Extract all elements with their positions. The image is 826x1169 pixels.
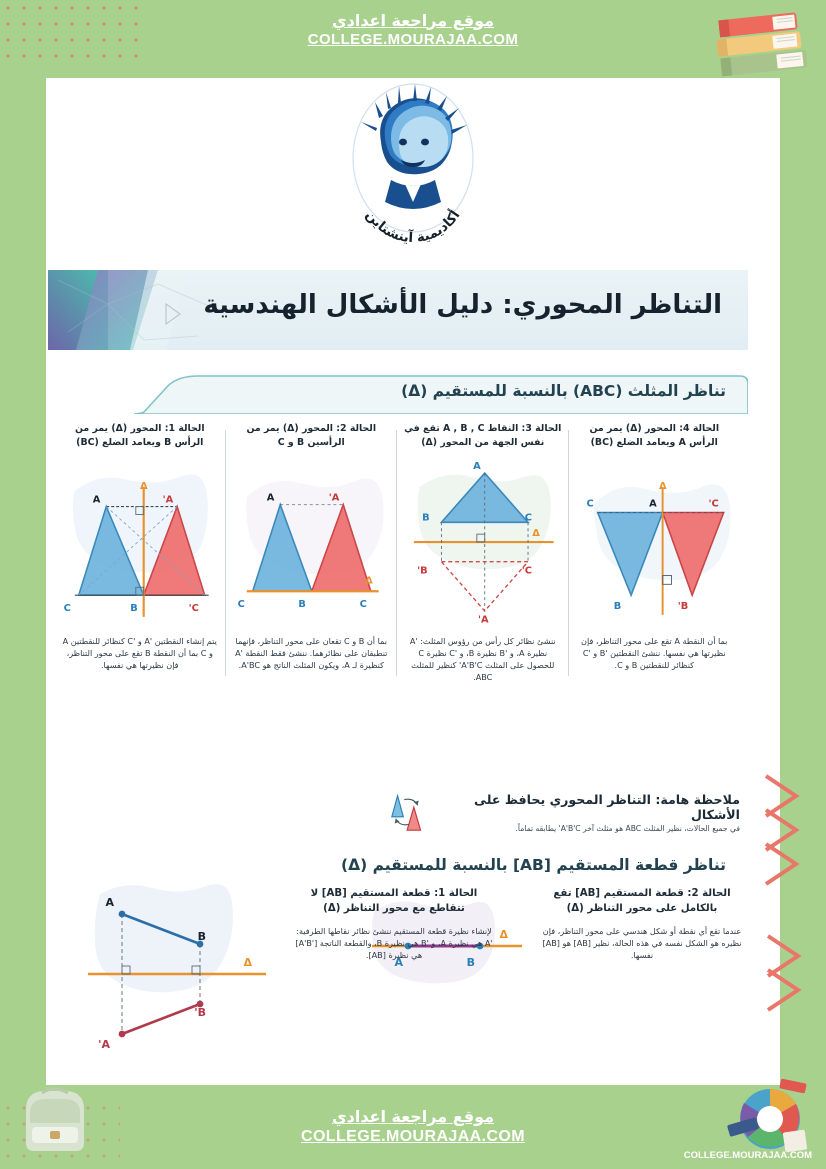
segment-case-1-figure: A B A' B' Δ [80,876,290,1066]
section-triangle-symmetry: تناظر المثلث (ABC) بالنسبة للمستقيم (Δ) … [48,374,748,844]
footer-banner: موقع مراجعة اعدادي COLLEGE.MOURAJAA.COM [196,1095,630,1169]
svg-text:A: A [266,493,274,504]
header-site-name-arabic: موقع مراجعة اعدادي [332,11,494,30]
books-illustration [708,8,818,98]
svg-text:C: C [359,599,366,610]
segment-case-1-heading: الحالة 1: قطعة المستقيم [AB] لا تتقاطع م… [294,886,494,917]
svg-text:C: C [64,603,71,614]
left-green-band [0,0,46,1169]
chevron-decoration-lower [762,930,822,1040]
important-note: ملاحظة هامة: التناظر المحوري يحافظ على ا… [388,788,740,836]
case-2-figure: A A' C B C Δ [233,456,391,631]
triangle-case-4: الحالة 4: المحور (Δ) يمر من الرأس A ويعا… [569,422,741,684]
svg-text:B: B [198,930,206,943]
svg-text:C: C [586,499,593,510]
svg-text:Δ: Δ [365,575,373,586]
svg-text:Δ: Δ [658,481,666,492]
svg-text:A: A [105,896,114,909]
svg-text:C': C' [189,603,199,614]
svg-text:B': B' [194,1006,206,1019]
einstein-academy-logo: أكاديمية آينشتاين [329,80,497,248]
symmetry-triangles-icon [388,791,426,833]
svg-text:A: A [649,499,657,510]
svg-text:B': B' [677,601,688,612]
svg-text:B: B [613,601,621,612]
triangle-case-3: الحالة 3: النقاط A , B , C تقع في نفس ال… [397,422,569,684]
school-supplies-illustration [722,1073,818,1157]
svg-text:A': A' [478,615,489,626]
section2-title: تناظر قطعة المستقيم [AB] بالنسبة للمستقي… [341,856,726,874]
svg-text:C': C' [708,499,718,510]
svg-text:Δ: Δ [499,928,508,941]
segment-case-2: الحالة 2: قطعة المستقيم [AB] تقع بالكامل… [542,886,742,961]
case-4-description: بما أن النقطة A تقع على محور التناظر، فإ… [576,635,734,671]
triangle-case-2: الحالة 2: المحور (Δ) يمر من الرأسين B و … [226,422,398,684]
svg-text:A': A' [98,1038,110,1051]
svg-text:B: B [422,512,430,523]
svg-text:B': B' [417,566,428,577]
case-2-heading: الحالة 2: المحور (Δ) يمر من الرأسين B و … [233,422,391,452]
segment-case-2-description: عندما تقع أي نقطة أو شكل هندسي على محور … [542,925,742,961]
case-3-description: ننشئ نظائر كل رأس من رؤوس المثلث: 'A نظي… [404,635,562,684]
note-title: ملاحظة هامة: التناظر المحوري يحافظ على ا… [434,792,740,822]
case-4-heading: الحالة 4: المحور (Δ) يمر من الرأس A ويعا… [576,422,734,452]
svg-text:B: B [130,603,138,614]
section-segment-symmetry: تناظر قطعة المستقيم [AB] بالنسبة للمستقي… [48,846,748,1066]
case-3-figure: A B C B' C' A' Δ [404,456,562,631]
section1-title: تناظر المثلث (ABC) بالنسبة للمستقيم (Δ) [401,382,726,400]
case-3-heading: الحالة 3: النقاط A , B , C تقع في نفس ال… [404,422,562,452]
svg-text:A': A' [328,493,339,504]
backpack-illustration [12,1079,98,1157]
svg-text:Δ: Δ [243,956,252,969]
case-1-figure: A A' C B C' Δ [61,456,219,631]
case-4-figure: C A C' B B' Δ [576,456,734,631]
header-site-url[interactable]: COLLEGE.MOURAJAA.COM [308,31,519,48]
segment-cases-row: الحالة 2: قطعة المستقيم [AB] تقع بالكامل… [48,886,748,1061]
triangle-case-1: الحالة 1: المحور (Δ) يمر من الرأس B ويعا… [54,422,226,684]
svg-text:Δ: Δ [140,481,148,492]
footer-site-url[interactable]: COLLEGE.MOURAJAA.COM [301,1128,525,1146]
svg-text:A': A' [163,495,174,506]
main-title-banner: التناظر المحوري: دليل الأشكال الهندسية [48,270,748,350]
infographic-page: موقع مراجعة اعدادي COLLEGE.MOURAJAA.COM [0,0,826,1169]
note-subtitle: في جميع الحالات، نظير المثلث ABC هو مثلث… [434,824,740,833]
svg-text:C': C' [522,566,532,577]
footer-corner-url: COLLEGE.MOURAJAA.COM [684,1150,812,1161]
footer-site-name-arabic: موقع مراجعة اعدادي [332,1107,494,1126]
svg-text:Δ: Δ [532,528,540,539]
segment-case-1-description: لإنشاء نظيرة قطعة المستقيم ننشئ نظائر نق… [294,925,494,961]
svg-text:C: C [525,512,532,523]
svg-text:A: A [473,461,481,472]
case-1-heading: الحالة 1: المحور (Δ) يمر من الرأس B ويعا… [61,422,219,452]
case-2-description: بما أن B و C تقعان على محور التناظر، فإن… [233,635,391,671]
segment-case-1: الحالة 1: قطعة المستقيم [AB] لا تتقاطع م… [294,886,494,961]
svg-text:B: B [298,599,306,610]
segment-case-2-heading: الحالة 2: قطعة المستقيم [AB] تقع بالكامل… [542,886,742,917]
polka-dot-decoration-top [0,0,140,70]
svg-text:C: C [237,599,244,610]
page-title: التناظر المحوري: دليل الأشكال الهندسية [203,290,722,320]
triangle-cases-row: الحالة 4: المحور (Δ) يمر من الرأس A ويعا… [54,422,740,684]
chevron-decoration-upper [760,770,820,910]
header-banner: موقع مراجعة اعدادي COLLEGE.MOURAJAA.COM [196,0,630,58]
svg-text:A: A [93,495,101,506]
case-1-description: يتم إنشاء النقطتين 'A و 'C كنظائر للنقطت… [61,635,219,671]
